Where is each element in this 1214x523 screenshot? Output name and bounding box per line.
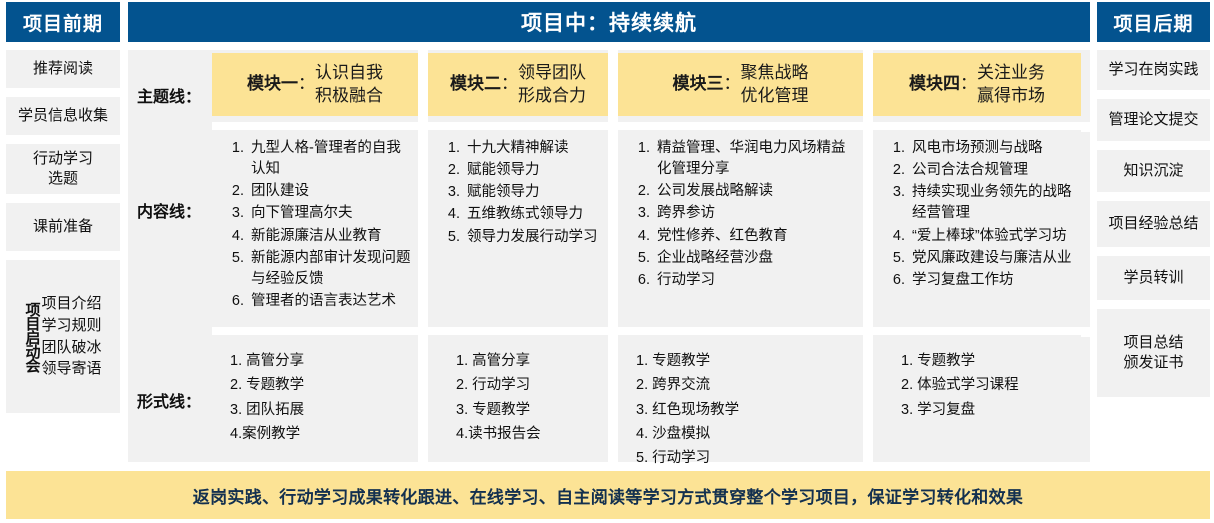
form-item-label: 行动学习: [472, 377, 530, 393]
content-item: 十九大精神解读: [464, 138, 602, 159]
module-subtitle: 聚焦战略 优化管理: [741, 62, 809, 108]
kickoff-item: 团队破冰: [41, 337, 101, 359]
post-stage-tile-6[interactable]: 项目总结 颁发证书: [1097, 309, 1210, 397]
form-item: 2. 专题教学: [230, 373, 412, 397]
content-item: 赋能领导力: [464, 182, 602, 203]
form-item: 4. 沙盘模拟: [636, 422, 857, 446]
module-separator: ：: [501, 73, 518, 96]
pre-stage-tile-1[interactable]: 推荐阅读: [6, 50, 120, 88]
content-item: 企业战略经营沙盘: [654, 248, 857, 269]
module-subtitle: 认识自我 积极融合: [315, 62, 383, 108]
form-item-label: 团队拓展: [246, 402, 304, 418]
form-item: 2. 跨界交流: [636, 373, 857, 397]
post-stage-tile-3[interactable]: 知识沉淀: [1097, 150, 1210, 192]
main-stage-panel: 主题线： 内容线： 形式线： 模块一：认识自我 积极融合 九型人格-管理者的自我…: [128, 50, 1090, 462]
module-form-box-2: 1. 高管分享 2. 行动学习 3. 专题教学 4.读书报告会: [428, 335, 608, 457]
form-item-label: 读书报告会: [468, 426, 541, 442]
content-item: 跨界参访: [654, 203, 857, 224]
pre-stage-tile-2[interactable]: 学员信息收集: [6, 97, 120, 135]
form-item: 3. 专题教学: [456, 398, 602, 422]
module-content-box-2: 十九大精神解读 赋能领导力 赋能领导力 五维教练式领导力 领导力发展行动学习: [428, 130, 608, 327]
pre-stage-tile-4[interactable]: 课前准备: [6, 203, 120, 251]
header-post-stage: 项目后期: [1097, 2, 1210, 42]
form-item-label: 学习复盘: [917, 402, 975, 418]
column-separator: [418, 50, 428, 462]
form-item: 4.读书报告会: [456, 422, 602, 446]
post-stage-tile-2[interactable]: 管理论文提交: [1097, 99, 1210, 141]
kickoff-item-list: 项目介绍 学习规则 团队破冰 领导寄语: [41, 293, 101, 380]
module-name: 模块一: [247, 73, 298, 96]
form-item-label: 专题教学: [246, 377, 304, 393]
header-pre-stage: 项目前期: [6, 2, 120, 42]
pre-stage-kickoff-box[interactable]: 项目启动会 项目介绍 学习规则 团队破冰 领导寄语: [6, 260, 120, 413]
module-content-list: 十九大精神解读 赋能领导力 赋能领导力 五维教练式领导力 领导力发展行动学习: [434, 138, 602, 248]
module-content-list: 九型人格-管理者的自我认知 团队建设 向下管理高尔夫 新能源廉洁从业教育 新能源…: [218, 138, 412, 312]
form-item-label: 体验式学习课程: [917, 377, 1019, 393]
pre-stage-column: 推荐阅读 学员信息收集 行动学习 选题 课前准备 项目启动会 项目介绍 学习规则…: [6, 50, 120, 413]
module-content-box-4: 风电市场预测与战略 公司合法合规管理 持续实现业务领先的战略经营管理 “爱上棒球…: [873, 130, 1081, 327]
module-content-box-3: 精益管理、华润电力风场精益化管理分享 公司发展战略解读 跨界参访 党性修养、红色…: [618, 130, 863, 327]
content-item: 公司发展战略解读: [654, 181, 857, 202]
module-theme-header-4[interactable]: 模块四：关注业务 赢得市场: [873, 53, 1081, 116]
form-item-label: 红色现场教学: [652, 402, 739, 418]
row-label-content: 内容线：: [128, 198, 210, 222]
module-separator: ：: [724, 73, 741, 96]
content-item: 学习复盘工作坊: [909, 270, 1075, 291]
form-item-label: 跨界交流: [652, 377, 710, 393]
post-stage-column: 学习在岗实践 管理论文提交 知识沉淀 项目经验总结 学员转训 项目总结 颁发证书: [1097, 50, 1210, 406]
bottom-banner: 返岗实践、行动学习成果转化跟进、在线学习、自主阅读等学习方式贯穿整个学习项目，保…: [6, 471, 1210, 519]
content-item: 领导力发展行动学习: [464, 227, 602, 248]
form-item: 1. 专题教学: [901, 349, 1075, 373]
module-name: 模块二: [450, 73, 501, 96]
content-item: 向下管理高尔夫: [248, 203, 412, 224]
module-theme-header-3[interactable]: 模块三：聚焦战略 优化管理: [618, 53, 863, 116]
module-theme-header-1[interactable]: 模块一：认识自我 积极融合: [212, 53, 418, 116]
module-content-list: 风电市场预测与战略 公司合法合规管理 持续实现业务领先的战略经营管理 “爱上棒球…: [879, 138, 1075, 291]
form-item: 1. 专题教学: [636, 349, 857, 373]
kickoff-item: 项目介绍: [41, 293, 101, 315]
form-item: 5. 行动学习: [636, 446, 857, 470]
content-item: 管理者的语言表达艺术: [248, 291, 412, 312]
form-item-label: 高管分享: [472, 353, 530, 369]
module-name: 模块三: [673, 73, 724, 96]
post-stage-tile-4[interactable]: 项目经验总结: [1097, 201, 1210, 247]
learning-map-diagram: 项目前期 项目中：持续续航 项目后期 推荐阅读 学员信息收集 行动学习 选题 课…: [0, 0, 1214, 523]
post-stage-tile-1[interactable]: 学习在岗实践: [1097, 50, 1210, 90]
form-item: 3. 学习复盘: [901, 398, 1075, 422]
header-main-stage: 项目中：持续续航: [128, 2, 1090, 42]
module-separator: ：: [298, 73, 315, 96]
row-label-form: 形式线：: [128, 388, 210, 412]
form-item-label: 沙盘模拟: [652, 426, 710, 442]
column-separator: [863, 50, 873, 462]
form-item: 1. 高管分享: [456, 349, 602, 373]
module-subtitle: 关注业务 赢得市场: [977, 62, 1045, 108]
form-item-label: 专题教学: [917, 353, 975, 369]
column-separator: [608, 50, 618, 462]
form-item: 2. 体验式学习课程: [901, 373, 1075, 397]
content-item: 新能源廉洁从业教育: [248, 226, 412, 247]
form-item-label: 高管分享: [246, 353, 304, 369]
module-form-box-4: 1. 专题教学 2. 体验式学习课程 3. 学习复盘: [873, 335, 1081, 457]
content-item: 五维教练式领导力: [464, 204, 602, 225]
content-item: 九型人格-管理者的自我认知: [248, 138, 412, 180]
pre-stage-tile-3[interactable]: 行动学习 选题: [6, 144, 120, 194]
content-item: 持续实现业务领先的战略经营管理: [909, 182, 1075, 224]
content-item: 公司合法合规管理: [909, 160, 1075, 181]
form-item: 3. 团队拓展: [230, 398, 412, 422]
content-item: 行动学习: [654, 270, 857, 291]
form-item: 3. 红色现场教学: [636, 398, 857, 422]
form-item-label: 专题教学: [472, 402, 530, 418]
form-item-label: 行动学习: [652, 450, 710, 466]
form-item-label: 专题教学: [652, 353, 710, 369]
module-content-box-1: 九型人格-管理者的自我认知 团队建设 向下管理高尔夫 新能源廉洁从业教育 新能源…: [212, 130, 418, 327]
kickoff-item: 领导寄语: [41, 358, 101, 380]
content-item: 党性修养、红色教育: [654, 226, 857, 247]
kickoff-item: 学习规则: [41, 315, 101, 337]
content-item: 风电市场预测与战略: [909, 138, 1075, 159]
post-stage-tile-5[interactable]: 学员转训: [1097, 256, 1210, 300]
form-item: 2. 行动学习: [456, 373, 602, 397]
row-label-theme: 主题线：: [128, 83, 210, 107]
kickoff-vertical-label: 项目启动会: [24, 302, 39, 372]
content-item: 精益管理、华润电力风场精益化管理分享: [654, 138, 857, 180]
module-name: 模块四: [909, 73, 960, 96]
module-form-box-1: 1. 高管分享 2. 专题教学 3. 团队拓展 4.案例教学: [212, 335, 418, 457]
content-item: 党风廉政建设与廉洁从业: [909, 248, 1075, 269]
module-separator: ：: [960, 73, 977, 96]
module-form-box-3: 1. 专题教学 2. 跨界交流 3. 红色现场教学 4. 沙盘模拟 5. 行动学…: [618, 335, 863, 457]
form-item: 1. 高管分享: [230, 349, 412, 373]
module-content-list: 精益管理、华润电力风场精益化管理分享 公司发展战略解读 跨界参访 党性修养、红色…: [624, 138, 857, 291]
module-theme-header-2[interactable]: 模块二：领导团队 形成合力: [428, 53, 608, 116]
content-item: 赋能领导力: [464, 160, 602, 181]
module-subtitle: 领导团队 形成合力: [518, 62, 586, 108]
content-item: “爱上棒球”体验式学习坊: [909, 226, 1075, 247]
content-item: 团队建设: [248, 181, 412, 202]
content-item: 新能源内部审计发现问题与经验反馈: [248, 248, 412, 290]
form-item-label: 案例教学: [242, 426, 300, 442]
form-item: 4.案例教学: [230, 422, 412, 446]
